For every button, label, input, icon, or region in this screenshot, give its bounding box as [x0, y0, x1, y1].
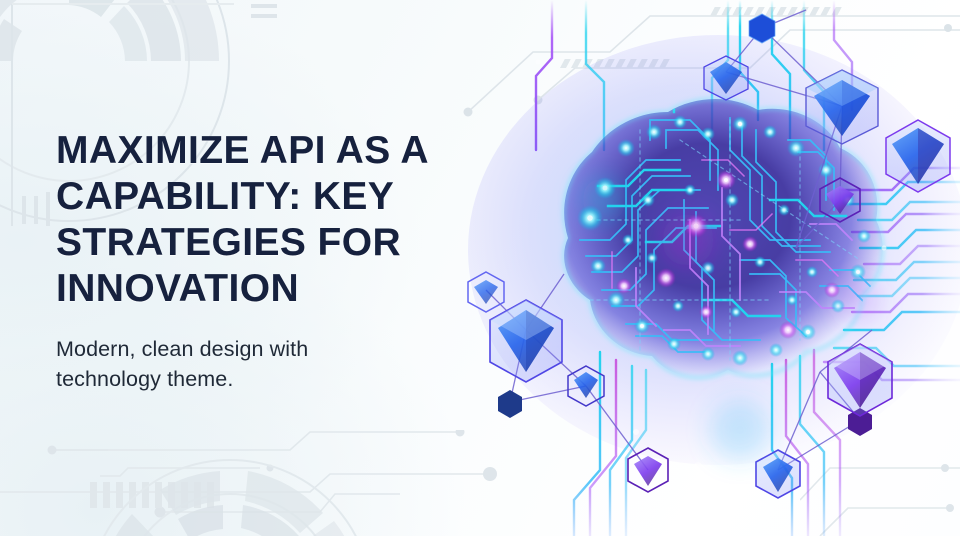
- page-title: Maximize API as a Capability: Key Strate…: [56, 128, 486, 312]
- tick-bars-top-left: [175, 0, 335, 40]
- hud-ring-bottom-left: [80, 452, 380, 536]
- circuit-brain-artwork: [440, 0, 960, 536]
- circuit-traces-bottom-left: [0, 430, 510, 536]
- hero-banner: Maximize API as a Capability: Key Strate…: [0, 0, 960, 536]
- page-subtitle: Modern, clean design with technology the…: [56, 334, 356, 394]
- hero-text-block: Maximize API as a Capability: Key Strate…: [56, 128, 486, 394]
